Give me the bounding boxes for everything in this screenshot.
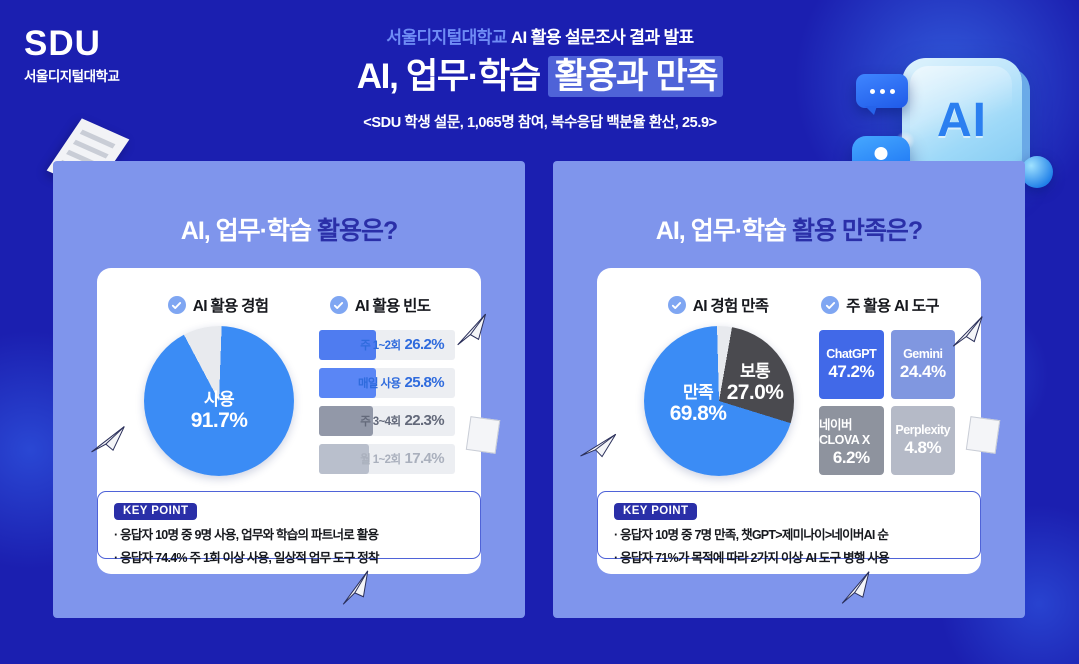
keypoint-line: · 응답자 10명 중 9명 사용, 업무와 학습의 파트너로 활용 xyxy=(114,524,464,543)
bars-container-frequency: 주 1~2회26.2%매일 사용25.8%주 3~4회22.3%월 1~2회17… xyxy=(315,326,455,476)
section-headers-usage: AI 활용 경험 AI 활용 빈도 xyxy=(97,268,481,316)
keypoint-usage: KEY POINT · 응답자 10명 중 9명 사용, 업무와 학습의 파트너… xyxy=(97,491,481,559)
pie-label-neutral: 보통 27.0% xyxy=(718,362,792,405)
sphere-icon xyxy=(1021,156,1053,188)
tool-tile-name: Gemini xyxy=(903,347,942,361)
pie-label-name: 사용 xyxy=(144,390,294,409)
sdu-logo: SDU 서울디지털대학교 xyxy=(24,26,174,85)
panel-title-dark: 활용 만족은? xyxy=(792,217,922,245)
check-circle-icon xyxy=(168,296,186,314)
keypoint-line: · 응답자 10명 중 7명 만족, 챗GPT>제미나이>네이버AI 순 xyxy=(614,524,964,543)
panel-satisfaction: AI, 업무·학습 활용 만족은? AI 경험 만족 주 활용 AI 도구 xyxy=(553,161,1025,618)
keypoint-satisfaction: KEY POINT · 응답자 10명 중 7명 만족, 챗GPT>제미나이>네… xyxy=(597,491,981,559)
tool-tile: Perplexity4.8% xyxy=(891,406,956,475)
bar-label: 월 1~2회17.4% xyxy=(360,450,455,468)
header: 서울디지털대학교 AI 활용 설문조사 결과 발표 AI, 업무·학습 활용과 … xyxy=(280,28,800,132)
tool-tile-value: 4.8% xyxy=(904,438,941,458)
panel-title-white: AI, 업무·학습 xyxy=(181,217,317,245)
tool-tile-name: 네이버 CLOVA X xyxy=(819,414,884,447)
page-title: AI, 업무·학습 활용과 만족 xyxy=(280,57,800,97)
check-circle-icon xyxy=(821,296,839,314)
keypoint-line: · 응답자 71%가 목적에 따라 2가지 이상 AI 도구 병행 사용 xyxy=(614,547,964,566)
page-title-highlight: 활용과 만족 xyxy=(548,56,723,97)
check-circle-icon xyxy=(668,296,686,314)
header-kicker-highlight: 서울디지털대학교 xyxy=(386,28,506,47)
section-head-label: AI 활용 경험 xyxy=(193,294,269,316)
bar-row: 주 3~4회22.3% xyxy=(319,406,455,436)
header-kicker: 서울디지털대학교 AI 활용 설문조사 결과 발표 xyxy=(280,28,800,48)
bar-label-name: 매일 사용 xyxy=(358,378,401,390)
section-head-ai-frequency: AI 활용 빈도 xyxy=(309,294,451,316)
logo-wordmark: SDU xyxy=(24,26,174,61)
pie-container-usage: 사용 91.7% xyxy=(123,326,315,476)
bar-row: 월 1~2회17.4% xyxy=(319,444,455,474)
bar-row: 주 1~2회26.2% xyxy=(319,330,455,360)
tiles-container-tools: ChatGPT47.2%Gemini24.4%네이버 CLOVA X6.2%Pe… xyxy=(815,326,955,476)
pie-label-name: 보통 xyxy=(718,362,792,381)
tile-chart-ai-tools: ChatGPT47.2%Gemini24.4%네이버 CLOVA X6.2%Pe… xyxy=(819,326,955,475)
bar-label-name: 월 1~2회 xyxy=(360,454,400,466)
section-headers-satisfaction: AI 경험 만족 주 활용 AI 도구 xyxy=(597,268,981,316)
panel-title-white: AI, 업무·학습 xyxy=(656,217,792,245)
chat-bubble-icon xyxy=(856,74,908,108)
chart-row-usage: 사용 91.7% 주 1~2회26.2%매일 사용25.8%주 3~4회22.3… xyxy=(97,316,481,476)
section-head-label: AI 경험 만족 xyxy=(693,294,769,316)
bar-label-name: 주 3~4회 xyxy=(360,416,400,428)
section-head-ai-tools: 주 활용 AI 도구 xyxy=(809,294,951,316)
bar-label: 매일 사용25.8% xyxy=(358,374,455,392)
tool-tile-value: 6.2% xyxy=(833,448,870,468)
bar-label-value: 17.4% xyxy=(404,450,444,467)
panel-title-usage: AI, 업무·학습 활용은? xyxy=(53,211,525,247)
section-head-ai-experience: AI 활용 경험 xyxy=(127,294,309,316)
keypoint-line: · 응답자 74.4% 주 1회 이상 사용, 일상적 업무 도구 정착 xyxy=(114,547,464,566)
tool-tile: 네이버 CLOVA X6.2% xyxy=(819,406,884,475)
bar-label: 주 3~4회22.3% xyxy=(360,412,455,430)
pie-container-satisfaction: 만족 69.8% 보통 27.0% xyxy=(623,326,815,476)
bar-label-name: 주 1~2회 xyxy=(360,340,400,352)
check-circle-icon xyxy=(330,296,348,314)
pie-label-used: 사용 91.7% xyxy=(144,390,294,433)
header-kicker-rest: AI 활용 설문조사 결과 발표 xyxy=(507,28,694,47)
note-paper-decoration xyxy=(966,416,1000,454)
tool-tile: ChatGPT47.2% xyxy=(819,330,884,399)
bar-label: 주 1~2회26.2% xyxy=(360,336,455,354)
section-head-label: 주 활용 AI 도구 xyxy=(846,294,939,316)
keypoint-badge: KEY POINT xyxy=(614,503,697,520)
note-paper-decoration xyxy=(466,416,500,454)
panel-title-dark: 활용은? xyxy=(317,217,397,245)
panel-usage: AI, 업무·학습 활용은? AI 활용 경험 AI 활용 빈도 사용 xyxy=(53,161,525,618)
tool-tile: Gemini24.4% xyxy=(891,330,956,399)
tool-tile-name: Perplexity xyxy=(895,423,950,437)
bar-label-value: 22.3% xyxy=(404,412,444,429)
logo-subtitle: 서울디지털대학교 xyxy=(24,65,174,85)
page-title-plain: AI, 업무·학습 xyxy=(357,57,549,96)
section-head-ai-satisfaction: AI 경험 만족 xyxy=(627,294,809,316)
tool-tile-value: 24.4% xyxy=(900,362,946,382)
bar-row: 매일 사용25.8% xyxy=(319,368,455,398)
pie-chart-ai-satisfaction: 만족 69.8% 보통 27.0% xyxy=(644,326,794,476)
survey-note: <SDU 학생 설문, 1,065명 참여, 복수응답 백분율 환산, 25.9… xyxy=(280,111,800,132)
bar-label-value: 26.2% xyxy=(404,336,444,353)
keypoint-badge: KEY POINT xyxy=(114,503,197,520)
bar-label-value: 25.8% xyxy=(404,374,444,391)
pie-chart-ai-experience: 사용 91.7% xyxy=(144,326,294,476)
chart-row-satisfaction: 만족 69.8% 보통 27.0% ChatGPT47.2%Gemini24.4… xyxy=(597,316,981,476)
tool-tile-value: 47.2% xyxy=(828,362,874,382)
bar-chart-ai-frequency: 주 1~2회26.2%매일 사용25.8%주 3~4회22.3%월 1~2회17… xyxy=(319,326,455,474)
panel-title-satisfaction: AI, 업무·학습 활용 만족은? xyxy=(553,211,1025,247)
pie-label-value: 69.8% xyxy=(650,402,746,426)
section-head-label: AI 활용 빈도 xyxy=(355,294,431,316)
pie-label-value: 27.0% xyxy=(718,381,792,405)
tool-tile-name: ChatGPT xyxy=(826,347,876,361)
pie-label-value: 91.7% xyxy=(144,409,294,433)
